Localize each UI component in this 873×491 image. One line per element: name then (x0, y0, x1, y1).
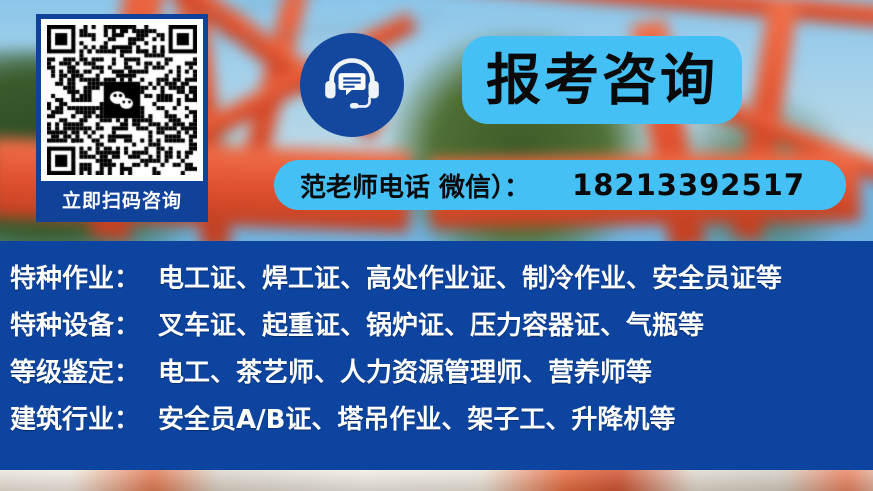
qr-code-canvas (47, 25, 197, 175)
headset-support-icon (300, 33, 404, 137)
photo-shade-bottom (0, 470, 873, 491)
category-items: 安全员A/B证、塔吊作业、架子工、升降机等 (158, 399, 675, 436)
background-photo-bottom (0, 470, 873, 491)
contact-phone-bar[interactable]: 范老师电话 微信）： 18213392517 (274, 160, 846, 210)
qr-code-card[interactable]: 立即扫码咨询 (36, 14, 208, 222)
page-title: 报考咨询 (486, 53, 718, 108)
category-row: 特种设备： 叉车证、起重证、锅炉证、压力容器证、气瓶等 (10, 305, 873, 352)
category-label: 特种作业： (10, 258, 158, 295)
category-row: 等级鉴定： 电工、茶艺师、人力资源管理师、营养师等 (10, 352, 873, 399)
course-category-panel: 特种作业： 电工证、焊工证、高处作业证、制冷作业、安全员证等 特种设备： 叉车证… (0, 241, 873, 470)
category-row: 建筑行业： 安全员A/B证、塔吊作业、架子工、升降机等 (10, 399, 873, 446)
category-items: 叉车证、起重证、锅炉证、压力容器证、气瓶等 (158, 305, 704, 342)
category-items: 电工、茶艺师、人力资源管理师、营养师等 (158, 352, 652, 389)
contact-phone-number[interactable]: 18213392517 (572, 168, 805, 202)
contact-label: 范老师电话 微信）： (300, 167, 530, 204)
category-label: 建筑行业： (10, 399, 158, 436)
category-label: 等级鉴定： (10, 352, 158, 389)
category-label: 特种设备： (10, 305, 158, 342)
promo-poster: 立即扫码咨询 报考咨询 范老师电话 微信）： 18213392517 特种作业：… (0, 0, 873, 491)
headline-pill: 报考咨询 (462, 36, 742, 124)
qr-code-image[interactable] (41, 19, 203, 181)
category-row: 特种作业： 电工证、焊工证、高处作业证、制冷作业、安全员证等 (10, 258, 873, 305)
category-items: 电工证、焊工证、高处作业证、制冷作业、安全员证等 (158, 258, 782, 295)
qr-caption: 立即扫码咨询 (62, 181, 182, 217)
